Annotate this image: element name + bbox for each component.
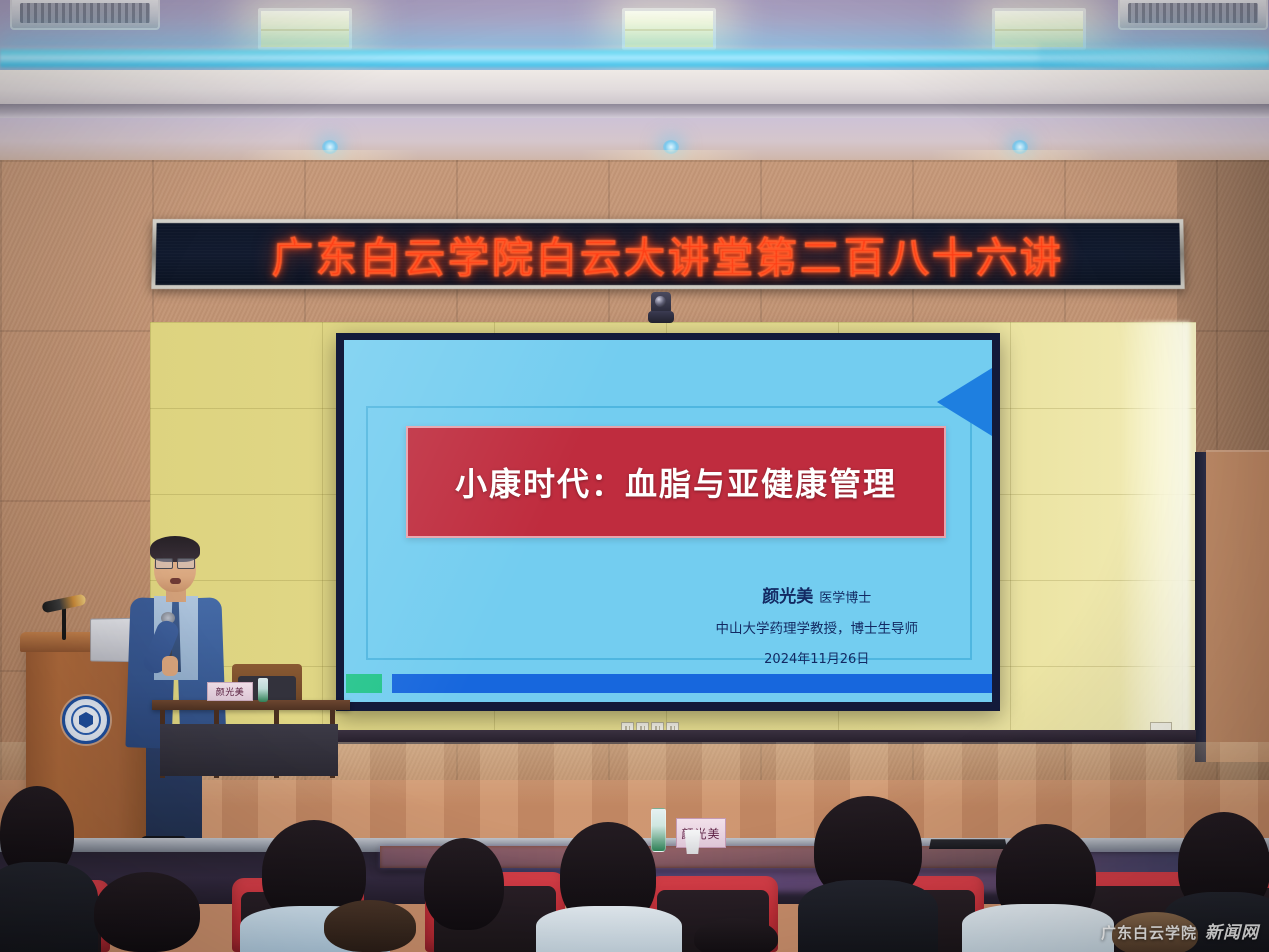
speaker-hand	[162, 656, 178, 676]
audience-shoulders	[962, 904, 1114, 952]
acoustic-panel-edge-glow	[1120, 322, 1190, 742]
projection-screen: 小康时代：血脂与亚健康管理 颜光美医学博士 中山大学药理学教授，博士生导师 20…	[336, 333, 1000, 711]
slide-accent-square	[346, 674, 382, 693]
ceiling-light-icon	[663, 140, 679, 154]
watermark-section: 新闻网	[1205, 918, 1259, 943]
slide-speaker-affiliation: 中山大学药理学教授，博士生导师	[716, 617, 919, 637]
audience-shoulders	[0, 862, 98, 952]
slide-date: 2024年11月26日	[716, 648, 919, 667]
door-gap	[1195, 452, 1206, 762]
ceiling-soffit-edge	[0, 104, 1269, 118]
microphone-stand	[62, 606, 66, 640]
slide-title: 小康时代：血脂与亚健康管理	[455, 459, 897, 505]
audience-shoulders	[798, 880, 938, 952]
watermark-brand: 广东白云学院	[1101, 922, 1197, 943]
audience-shoulders	[536, 906, 682, 952]
led-banner-text: 广东白云学院白云大讲堂第二百八十六讲	[272, 224, 1065, 284]
name-placard: 颜光美	[676, 818, 726, 848]
ac-vents	[1128, 3, 1258, 23]
glasses-icon	[155, 558, 195, 567]
name-placard: 颜光美	[207, 682, 253, 701]
camera-lens	[655, 296, 666, 307]
water-bottle	[651, 808, 666, 852]
stage-table-skirt	[160, 724, 338, 776]
slide-title-box: 小康时代：血脂与亚健康管理	[406, 426, 946, 538]
slide-speaker-name: 颜光美	[762, 587, 813, 607]
slide-speaker-line: 颜光美医学博士	[716, 582, 919, 607]
led-banner: 广东白云学院白云大讲堂第二百八十六讲	[151, 219, 1184, 289]
slide-speaker-degree: 医学博士	[819, 591, 871, 606]
lecture-hall-photo: 广东白云学院白云大讲堂第二百八十六讲 小康时代：血脂与亚健康管理 颜光美医学博士…	[0, 0, 1269, 952]
ceiling-light-icon	[322, 140, 338, 154]
ceiling-light-icon	[622, 8, 716, 50]
air-conditioner-icon	[10, 0, 160, 30]
slide-bottom-bar	[392, 674, 992, 693]
ceiling-light-icon	[1012, 140, 1028, 154]
ceiling-light-icon	[258, 8, 352, 50]
speaker-mouth	[170, 578, 181, 584]
slide-credits: 颜光美医学博士 中山大学药理学教授，博士生导师 2024年11月26日	[716, 582, 919, 667]
university-seal-icon	[62, 696, 110, 744]
ac-vents	[20, 3, 150, 23]
ceiling-led-strip-hotspot	[1039, 44, 1269, 72]
camera-base	[648, 311, 674, 323]
presentation-slide: 小康时代：血脂与亚健康管理 颜光美医学博士 中山大学药理学教授，博士生导师 20…	[344, 340, 992, 702]
audience-member	[94, 872, 200, 952]
front-table-laptop	[929, 839, 1007, 849]
audience-member	[324, 900, 416, 952]
water-bottle	[258, 678, 268, 702]
side-door[interactable]	[1206, 450, 1269, 762]
watermark: 广东白云学院 新闻网	[1101, 918, 1259, 943]
audience-member	[694, 918, 778, 952]
audience-member	[424, 838, 504, 930]
air-conditioner-icon	[1118, 0, 1268, 30]
ptz-camera-icon	[648, 292, 674, 326]
stage-table	[152, 700, 350, 710]
